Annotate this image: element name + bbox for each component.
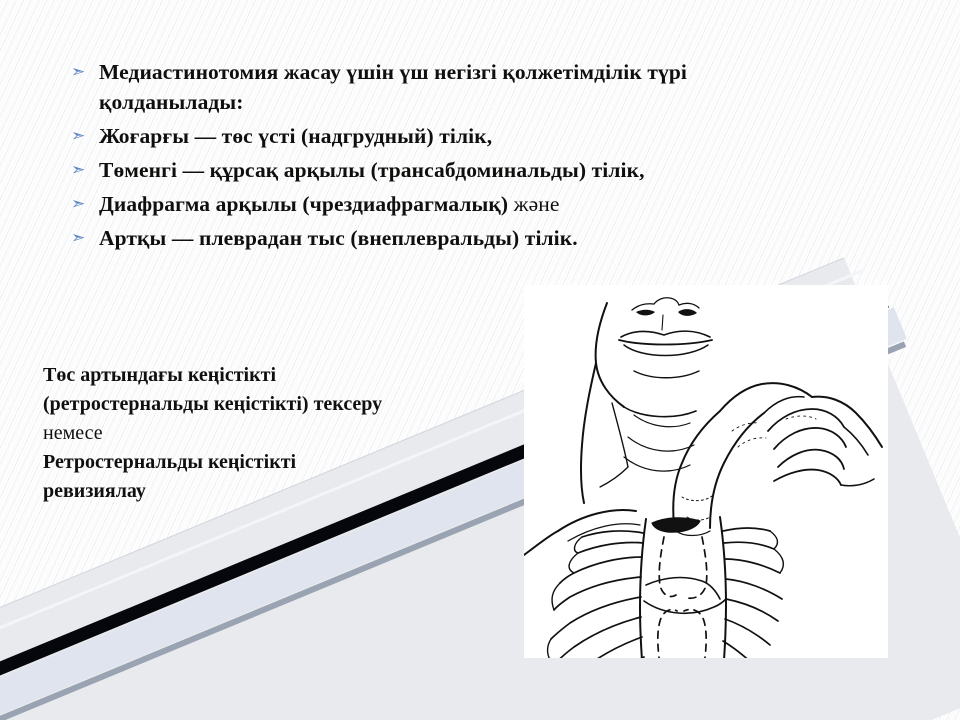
arrow-bullet-icon: ➣	[68, 223, 99, 253]
list-item: ➣ Диафрагма арқылы (чрездиафрагмалық) жә…	[68, 189, 898, 219]
arrow-bullet-icon: ➣	[68, 121, 99, 151]
list-item-text-bold: Диафрагма арқылы (чрездиафрагмалық)	[99, 192, 514, 216]
list-item-text-bold: Артқы — плеврадан тыс (внеплевральды) ті…	[99, 226, 578, 250]
list-item: ➣ Төменгі — құрсақ арқылы (трансабдомина…	[68, 155, 898, 185]
list-item-text: Жоғарғы — төс үсті (надгрудный) тілік,	[99, 121, 898, 151]
arrow-bullet-icon: ➣	[68, 57, 99, 87]
list-item-text-bold: Жоғарғы — төс үсті (надгрудный) тілік,	[99, 124, 492, 148]
retrosternal-space-examination-diagram	[524, 285, 888, 658]
list-item-text-light: және	[514, 192, 560, 216]
caption-line-2: (ретростернальды кеңістікті) тексеру	[43, 390, 513, 419]
list-item-text: Диафрагма арқылы (чрездиафрагмалық) және	[99, 189, 898, 219]
list-item: ➣ Медиастинотомия жасау үшін үш негізгі …	[68, 57, 898, 117]
list-item-text-bold: Төменгі — құрсақ арқылы (трансабдоминаль…	[99, 158, 645, 182]
caption-line-3: немесе	[43, 419, 513, 448]
list-item: ➣ Артқы — плеврадан тыс (внеплевральды) …	[68, 223, 898, 253]
caption-line-5: ревизиялау	[43, 477, 513, 506]
bullet-list: ➣ Медиастинотомия жасау үшін үш негізгі …	[68, 57, 898, 257]
list-item-text: Төменгі — құрсақ арқылы (трансабдоминаль…	[99, 155, 898, 185]
list-item: ➣ Жоғарғы — төс үсті (надгрудный) тілік,	[68, 121, 898, 151]
arrow-bullet-icon: ➣	[68, 155, 99, 185]
list-item-text-bold: Медиастинотомия жасау үшін үш негізгі қо…	[99, 60, 687, 114]
list-item-text: Медиастинотомия жасау үшін үш негізгі қо…	[99, 57, 789, 117]
list-item-text: Артқы — плеврадан тыс (внеплевральды) ті…	[99, 223, 898, 253]
caption-line-4: Ретростернальды кеңістікті	[43, 448, 513, 477]
caption-line-1: Төс артындағы кеңістікті	[43, 361, 513, 390]
figure-caption: Төс артындағы кеңістікті (ретростернальд…	[43, 361, 513, 506]
presentation-slide: ➣ Медиастинотомия жасау үшін үш негізгі …	[0, 0, 960, 720]
arrow-bullet-icon: ➣	[68, 189, 99, 219]
